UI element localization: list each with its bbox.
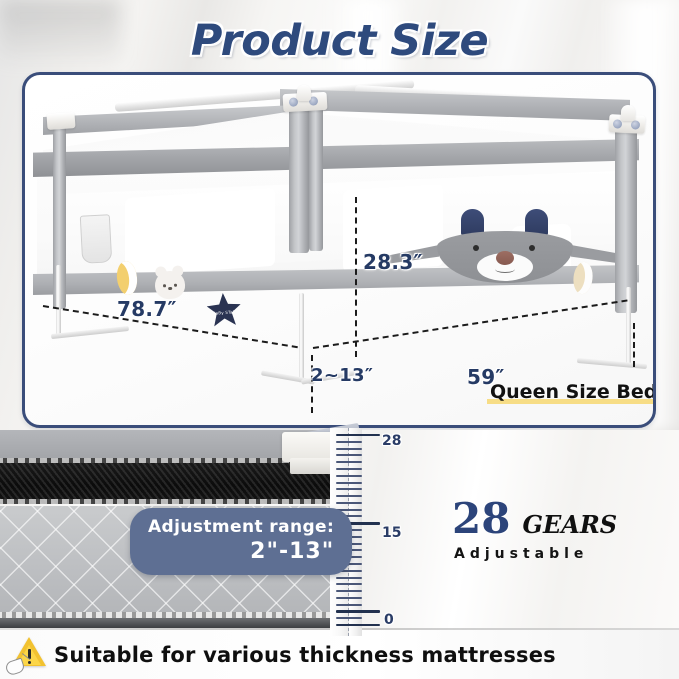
- ruler-tick: [336, 617, 362, 619]
- ruler-tick: [336, 583, 362, 585]
- screw-dot-icon: [613, 119, 622, 128]
- support-leg-left: [56, 265, 61, 337]
- bear-face-decoration: [437, 223, 573, 283]
- star-icon: BaBy STaR: [206, 292, 242, 328]
- bear-nose: [496, 251, 514, 265]
- ruler-tick: [336, 610, 380, 612]
- ruler-tick: [336, 590, 362, 592]
- star-label: BaBy STaR: [213, 309, 236, 316]
- gears-label: GEARS: [522, 513, 617, 537]
- ruler-label-15: 15: [382, 525, 401, 541]
- bed-size-label: Queen Size Bed: [487, 381, 656, 404]
- warning-triangle-icon: [6, 634, 52, 676]
- ruler-tick: [336, 495, 362, 497]
- gears-count: 28: [452, 498, 510, 540]
- ruler-tick: [336, 502, 362, 504]
- screw-dot-icon: [631, 120, 640, 129]
- dimension-line-right: [633, 323, 635, 367]
- footer-caption: Suitable for various thickness mattresse…: [54, 643, 556, 667]
- kitty-face-icon: [154, 270, 185, 300]
- dimension-label-gap: 2~13″: [311, 365, 373, 386]
- dimension-label-height: 28.3″: [363, 250, 423, 274]
- ruler-tick: [336, 441, 362, 443]
- ruler-tick: [336, 597, 362, 599]
- page-title: Product Size: [191, 16, 488, 66]
- page-title-container: Product Size: [0, 16, 679, 66]
- ruler-tick: [336, 475, 362, 477]
- ruler-label-0: 0: [384, 612, 394, 628]
- gears-subtitle: Adjustable: [454, 546, 617, 562]
- bear-eye-right: [529, 245, 535, 251]
- support-foot-left: [51, 326, 129, 339]
- ruler-tick: [336, 461, 362, 463]
- support-leg-middle: [299, 293, 304, 383]
- product-size-infographic: Product Size: [0, 0, 679, 679]
- corner-post-middle: [289, 103, 309, 253]
- mattress-dark-band: [0, 458, 336, 504]
- bear-mouth: [495, 265, 515, 273]
- post-knob-right: [621, 105, 635, 121]
- storage-pocket: [80, 214, 112, 264]
- adjustment-range-badge: Adjustment range: 2"-13": [130, 508, 352, 575]
- dimension-label-length: 78.7″: [117, 297, 177, 321]
- adjustment-range-value: 2"-13": [148, 539, 334, 564]
- gears-row: 28 GEARS: [452, 498, 617, 540]
- ruler-tick: [336, 448, 362, 450]
- support-foot-right: [577, 358, 647, 369]
- ruler-tick: [336, 482, 362, 484]
- ruler-label-28: 28: [382, 433, 401, 449]
- mesh-window-left: [125, 188, 275, 276]
- ruler-tick: [336, 577, 362, 579]
- footer-caption-bar: Suitable for various thickness mattresse…: [0, 630, 679, 679]
- corner-cap-top-left: [46, 112, 75, 130]
- kitty-face-features: [161, 284, 179, 293]
- post-knob-middle: [297, 85, 311, 101]
- product-diagram-frame: BaBy STaR 78.7″ 59″ 28.3″ 2~13″ Queen Si…: [22, 72, 656, 428]
- dimension-line-height: [355, 197, 357, 357]
- mattress-base: [0, 618, 336, 628]
- ruler-tick: [336, 488, 362, 490]
- adjustment-range-title: Adjustment range:: [148, 517, 334, 537]
- ruler-tick: [336, 468, 362, 470]
- gears-callout: 28 GEARS Adjustable: [452, 498, 617, 562]
- corner-post-middle-2: [309, 99, 323, 251]
- ruler-tick: [336, 604, 362, 606]
- bear-eye-left: [473, 245, 479, 251]
- dimension-line-width: [313, 299, 628, 349]
- corner-post-right: [615, 127, 637, 313]
- bed-rail-illustration: BaBy STaR 78.7″ 59″ 28.3″ 2~13″ Queen Si…: [25, 75, 653, 425]
